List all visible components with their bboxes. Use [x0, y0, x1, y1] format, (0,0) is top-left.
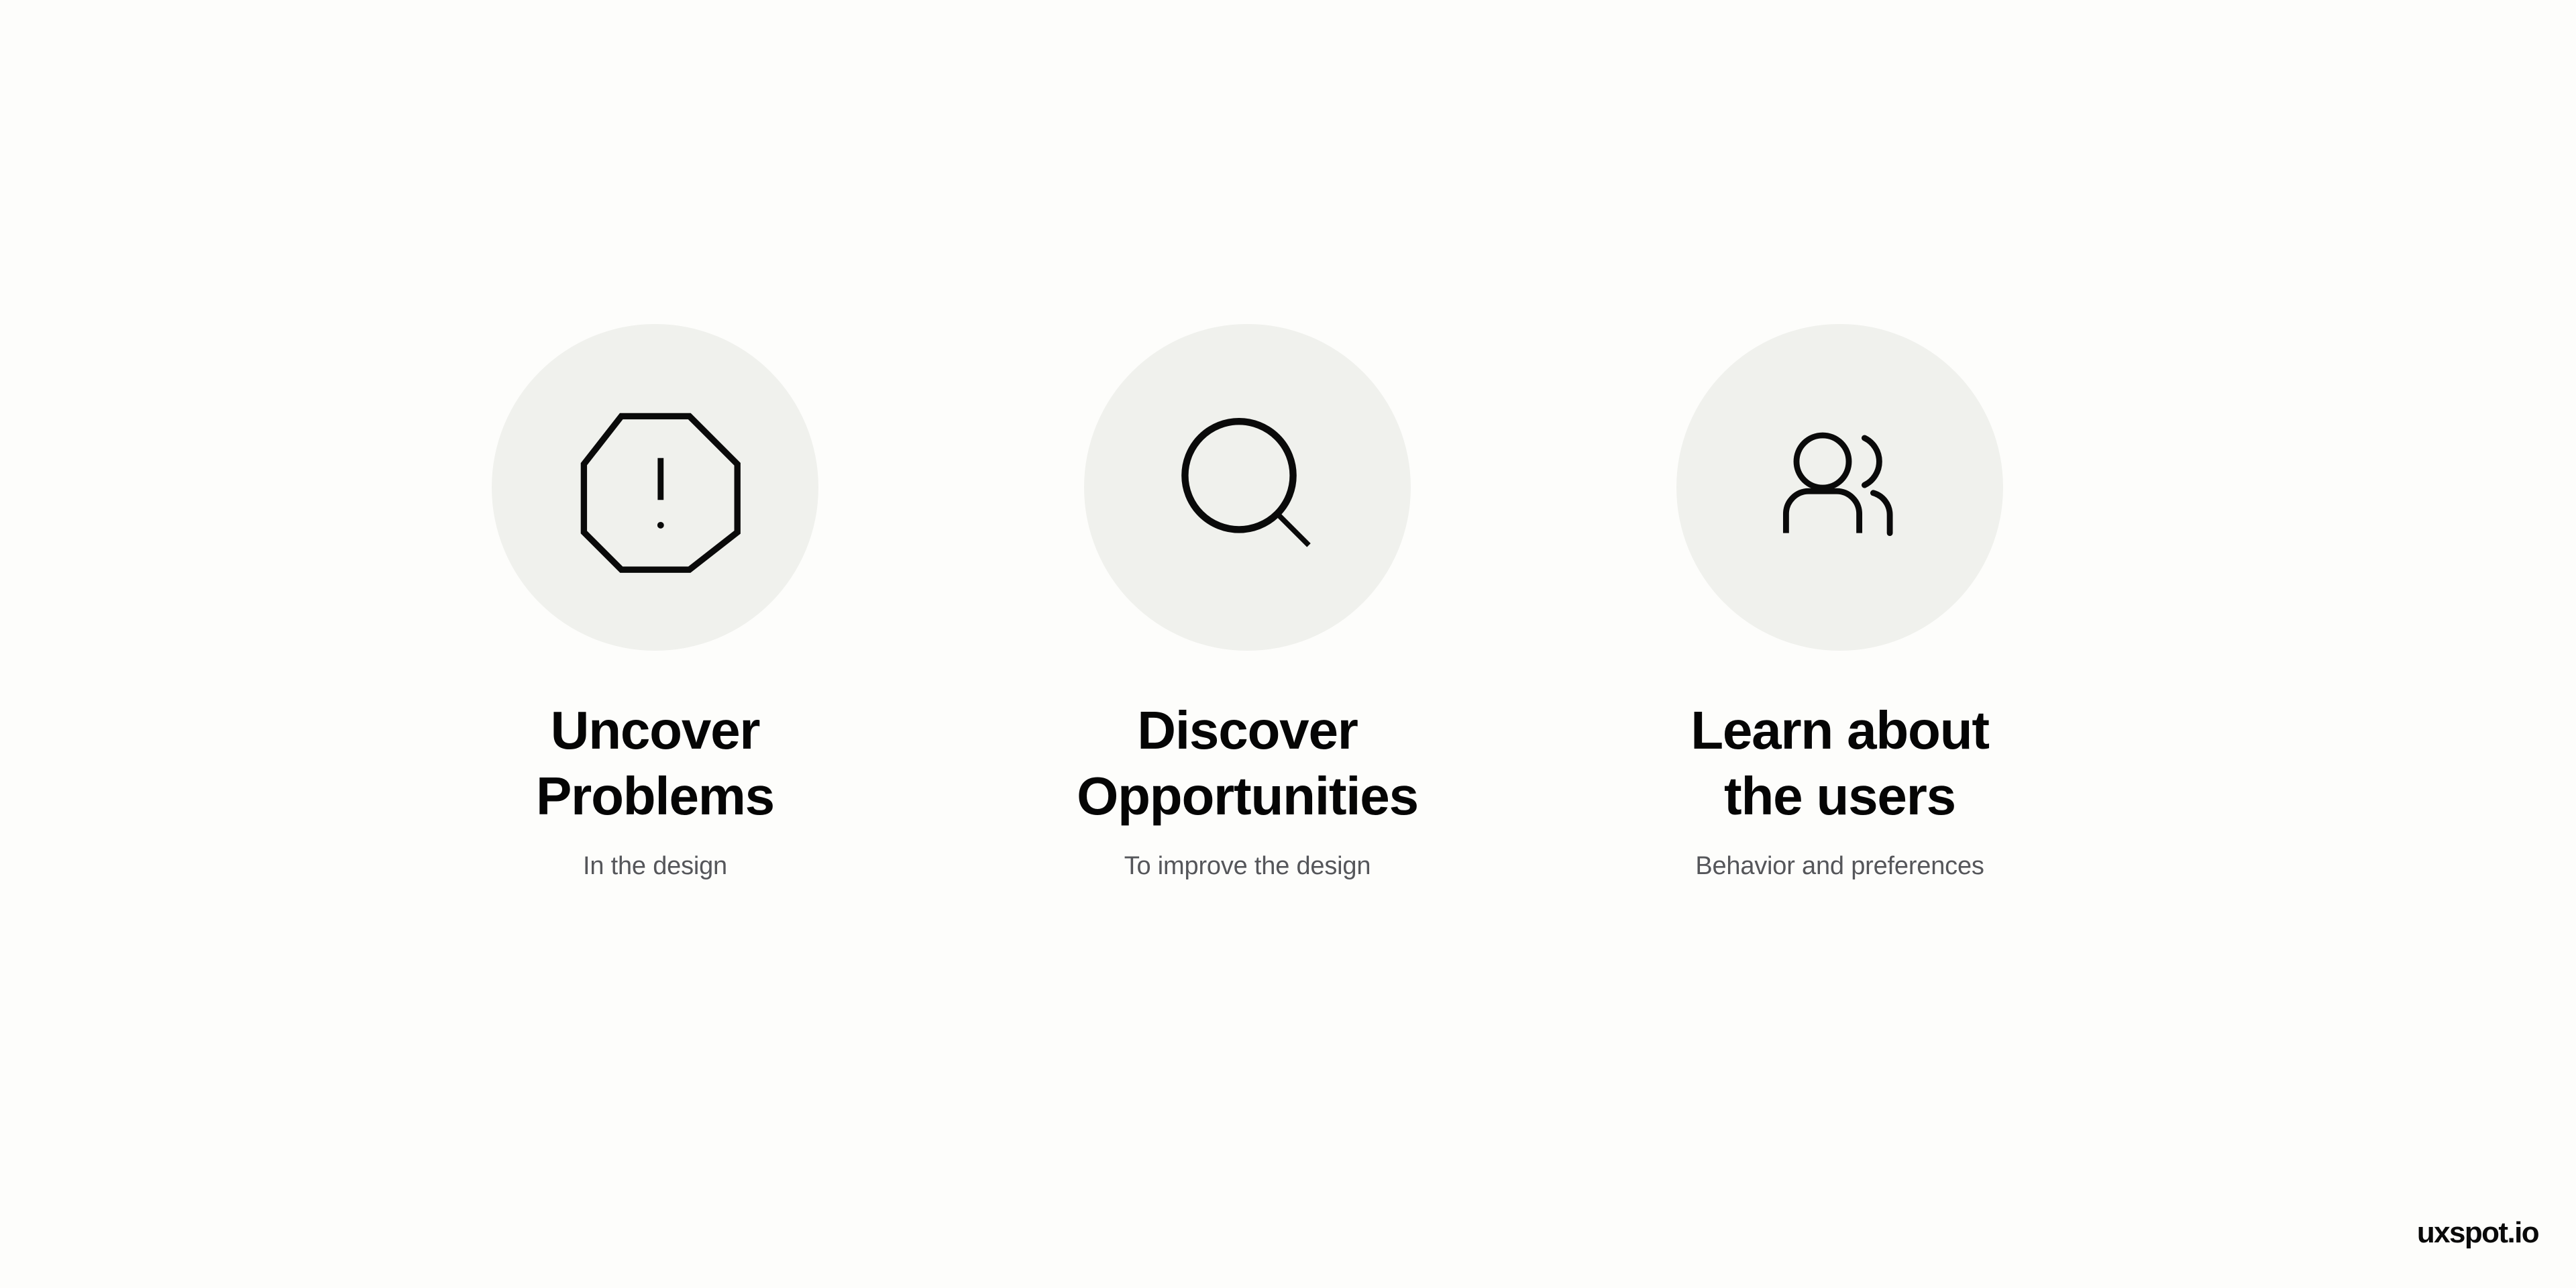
- magnifier-icon: [1161, 400, 1335, 575]
- users-icon: [1753, 400, 1927, 575]
- feature-row: Uncover Problems In the design Discover …: [0, 324, 2576, 881]
- feature-card-discover-opportunities: Discover Opportunities To improve the de…: [951, 324, 1544, 881]
- octagon-exclamation-icon: [568, 400, 743, 575]
- feature-title: Learn about the users: [1690, 651, 1989, 829]
- feature-card-learn-about-the-users: Learn about the users Behavior and prefe…: [1544, 324, 2136, 881]
- icon-badge: [1676, 324, 2003, 651]
- feature-title: Discover Opportunities: [1077, 651, 1418, 829]
- brand-wordmark: uxspot.io: [2417, 1216, 2538, 1250]
- feature-title: Uncover Problems: [536, 651, 774, 829]
- feature-subtitle: Behavior and preferences: [1695, 829, 1984, 881]
- icon-badge: [1084, 324, 1411, 651]
- feature-card-uncover-problems: Uncover Problems In the design: [359, 324, 951, 881]
- feature-subtitle: To improve the design: [1124, 829, 1371, 881]
- feature-subtitle: In the design: [583, 829, 727, 881]
- icon-badge: [492, 324, 818, 651]
